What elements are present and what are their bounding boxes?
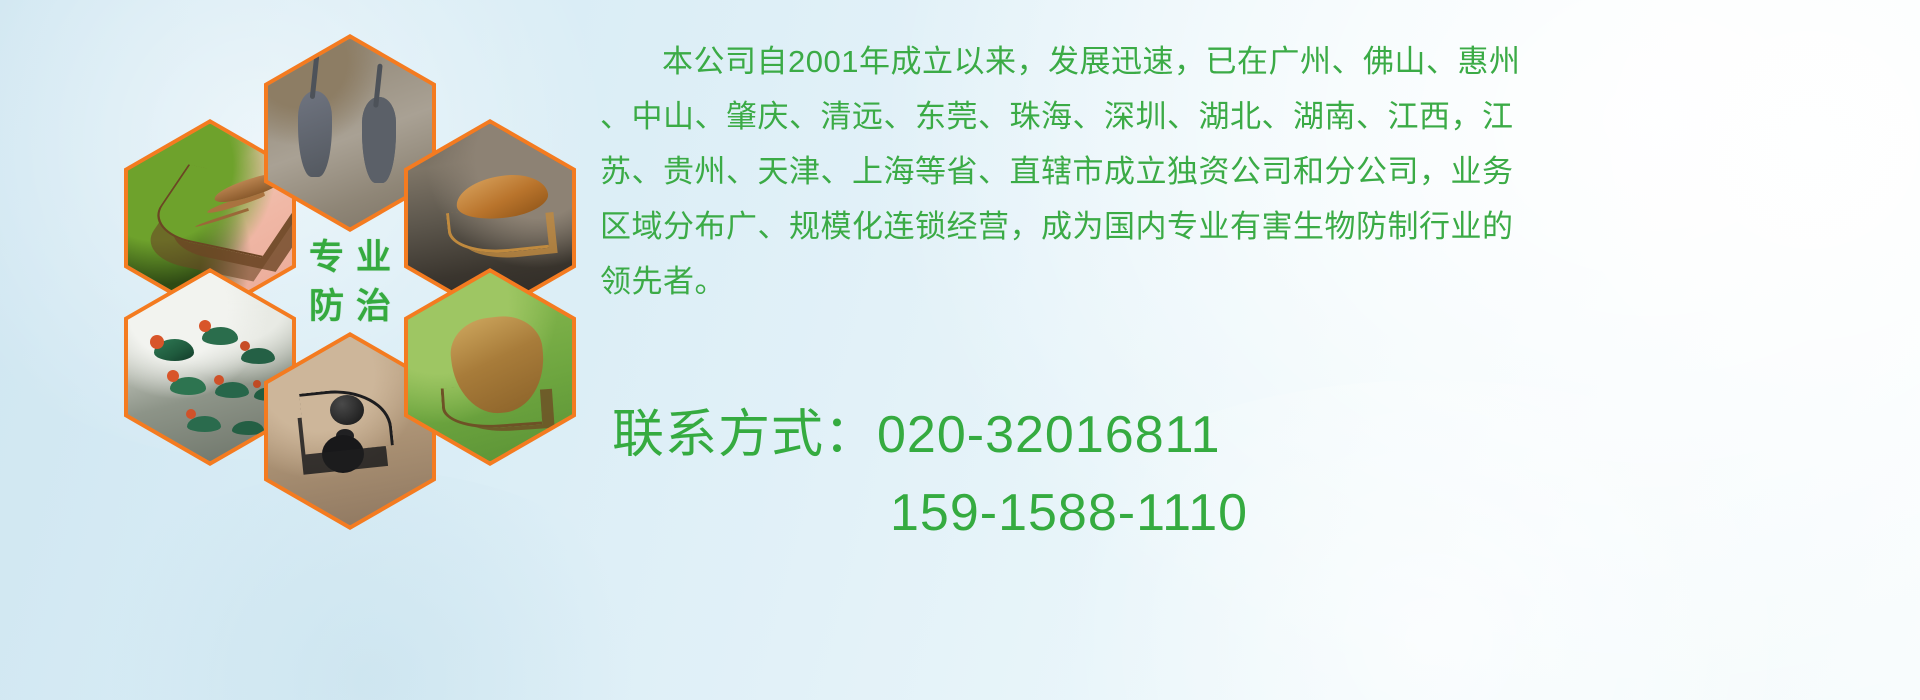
- company-description: 本公司自2001年成立以来，发展迅速，已在广州、佛山、惠州 、中山、肇庆、清远、…: [600, 34, 1900, 309]
- honeycomb-photo-cluster: 专业 防治: [92, 6, 592, 566]
- description-line-2: 、中山、肇庆、清远、东莞、珠海、深圳、湖北、湖南、江西，江: [600, 89, 1900, 144]
- description-line-4: 区域分布广、规模化连锁经营，成为国内专业有害生物防制行业的: [600, 199, 1900, 254]
- description-line-5: 领先者。: [600, 254, 1900, 309]
- center-label-line-2: 防治: [297, 289, 403, 324]
- contact-phone-primary[interactable]: 020-32016811: [877, 406, 1221, 464]
- description-line-1: 本公司自2001年成立以来，发展迅速，已在广州、佛山、惠州: [600, 34, 1900, 89]
- contact-block: 联系方式：020-32016811 159-1588-1110: [612, 396, 1912, 552]
- center-label-line-1: 专业: [297, 240, 403, 275]
- contact-secondary-line: 159-1588-1110: [612, 474, 1912, 552]
- contact-label: 联系方式：: [612, 406, 877, 464]
- pest-control-banner: 专业 防治 本公司自2001年成立以来，发展迅速，已在广州、佛山、惠州 、中山、…: [0, 0, 1920, 700]
- contact-phone-secondary[interactable]: 159-1588-1110: [890, 484, 1248, 542]
- description-line-1-text: 本公司自2001年成立以来，发展迅速，已在广州、佛山、惠州: [662, 44, 1520, 79]
- description-line-3: 苏、贵州、天津、上海等省、直辖市成立独资公司和分公司，业务: [600, 144, 1900, 199]
- contact-primary-line: 联系方式：020-32016811: [612, 396, 1912, 474]
